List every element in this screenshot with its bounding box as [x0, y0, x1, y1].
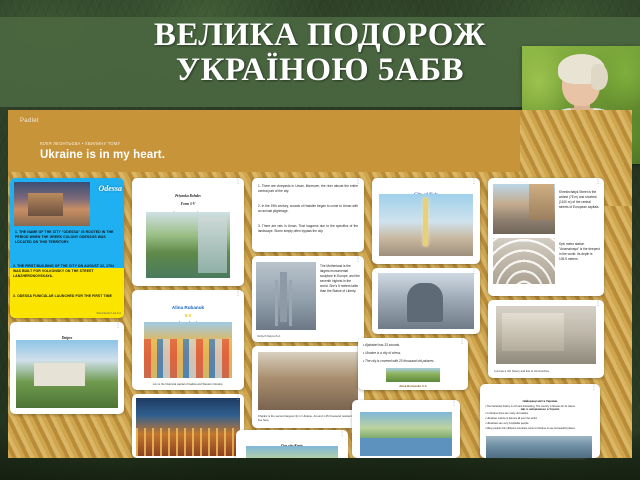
- odessa-signature: Shevchenko Liza 5-A: [96, 312, 121, 316]
- maidan-photo: [379, 194, 473, 256]
- card-lviv-title[interactable]: Alina Rubanuk 5-V Lviv- Ukraine Lviv is …: [132, 290, 244, 390]
- alphabet-fact-3: • The city is covered with 25 thousand o…: [363, 359, 463, 364]
- card-menu-icon[interactable]: ⋮: [595, 180, 601, 185]
- lviv-square-caption: Lviv has a rich history and lots of old …: [494, 370, 598, 374]
- lviv-caption: Lviv is the historical capital of Galici…: [132, 383, 244, 387]
- card-menu-icon[interactable]: ⋮: [595, 302, 601, 307]
- card-menu-icon[interactable]: ⋮: [471, 270, 477, 275]
- card-menu-icon[interactable]: ⋮: [591, 386, 597, 391]
- final-report-line-4: • Ukrainians are very hospitable people.: [485, 422, 595, 426]
- card-khreshchatyk-metro[interactable]: Khreshchatyk Street is the widest (75 m)…: [488, 178, 604, 296]
- uman-fact-3: 3. There are rats in Uman. That happens …: [258, 224, 358, 234]
- khreshchatyk-text: Khreshchatyk Street is the widest (75 m)…: [559, 190, 600, 210]
- motherland-photo: [256, 262, 316, 330]
- night-city-photo: [136, 398, 240, 456]
- card-menu-icon[interactable]: ⋮: [339, 432, 345, 437]
- card-menu-icon[interactable]: ⋮: [355, 258, 361, 263]
- alphabet-fact-2: • Ukraine is a city of chess.: [363, 351, 463, 356]
- uman-photo: [146, 212, 230, 278]
- alphabet-signature: Alina Borisenko 5-A: [358, 384, 468, 388]
- padlet-board[interactable]: Padlet ЮЛІЯ ЛЕОНТЬЄВА • ХВИЛИНУ ТОМУ Ukr…: [8, 110, 632, 458]
- card-kyiv-city[interactable]: City of Kyiv ⋮: [372, 178, 480, 264]
- card-menu-icon[interactable]: ⋮: [235, 396, 241, 401]
- river-photo: [246, 446, 338, 458]
- kharkiv-caption: Kharkiv is the second largest city in Uk…: [258, 414, 358, 422]
- card-uman-park[interactable]: Uman park ⋮: [352, 400, 460, 458]
- kharkiv-photo: [258, 352, 358, 410]
- slide-canvas: ВЕЛИКА ПОДОРОЖ УКРАЇНОЮ 5АБВ Padlet ЮЛІЯ…: [0, 0, 640, 480]
- odessa-fact-3: 3. ODESSA FUNICULAR LAUNCHED FOR THE FIR…: [13, 294, 121, 299]
- khreshchatyk-photo: [493, 184, 555, 234]
- card-alphabet-facts[interactable]: • Alphabet has 33 sounds. • Ukraine is a…: [358, 338, 468, 390]
- alphabet-fact-1: • Alphabet has 33 sounds.: [363, 343, 463, 348]
- final-report-photo: [486, 436, 592, 458]
- card-menu-icon[interactable]: ⋮: [235, 292, 241, 297]
- card-menu-icon[interactable]: ⋮: [115, 180, 121, 185]
- card-menu-icon[interactable]: ⋮: [235, 180, 241, 185]
- card-odessa-facts[interactable]: Odessa 1. THE NAME OF THE CITY "ODESSA" …: [10, 178, 124, 318]
- odessa-title: Odessa: [98, 184, 122, 193]
- padlet-board-title[interactable]: Ukraine is in my heart.: [40, 149, 165, 161]
- card-motherland[interactable]: The Motherland is the largest monumental…: [252, 256, 364, 342]
- presenter-hair-side: [591, 64, 608, 90]
- dnipro-photo: [16, 340, 118, 408]
- card-uman-title[interactable]: Priyanka Rohdov Form 5-V -Interesting Fa…: [132, 178, 244, 286]
- uman-fact-2: 2. In the 19th century, crowds of Hasidi…: [258, 204, 358, 214]
- padlet-logo[interactable]: Padlet: [20, 118, 39, 124]
- card-kyiv-founders[interactable]: ⋮: [372, 268, 480, 334]
- card-menu-icon[interactable]: ⋮: [471, 180, 477, 185]
- final-report-line-3: • Ukrainian cuisine is famous all over t…: [485, 417, 595, 421]
- alphabet-photo: [386, 368, 440, 382]
- card-menu-icon[interactable]: ⋮: [451, 402, 457, 407]
- card-lviv-square[interactable]: Lviv has a rich history and lots of old …: [488, 300, 604, 378]
- card-menu-icon[interactable]: ⋮: [115, 324, 121, 329]
- card-menu-icon[interactable]: ⋮: [355, 180, 361, 185]
- card-menu-icon[interactable]: ⋮: [459, 340, 465, 345]
- final-report-line-2: • In Ukraine there are many old castles.: [485, 412, 595, 416]
- padlet-byline: ЮЛІЯ ЛЕОНТЬЄВА • ХВИЛИНУ ТОМУ: [40, 141, 120, 146]
- odessa-fact-2: 2. THE FIRST BUILDING OF THE CITY ON AUG…: [13, 264, 121, 279]
- uman-fact-1: 1. There are vineyards in Uman. Moreover…: [258, 184, 358, 194]
- final-report-line-1: • The Ukrainian history is rich and inte…: [485, 405, 595, 409]
- card-dnipro[interactable]: Dnipro Dnipropetrovsk ⋮: [10, 322, 124, 414]
- odessa-fact-1: 1. THE NAME OF THE CITY "ODESSA" IS ROOT…: [15, 230, 120, 245]
- motherland-signature: Verbych Daryna 5-A: [257, 335, 280, 339]
- card-kharkiv[interactable]: Kharkiv is the second largest city in Uk…: [252, 346, 364, 428]
- uman-park-photo: [360, 412, 452, 456]
- metro-text: Kyiv metro station "Arsenalnaya" is the …: [559, 242, 600, 262]
- card-night-city[interactable]: ⋮: [132, 394, 244, 458]
- lviv-square-photo: [496, 306, 596, 364]
- card-river-view[interactable]: Our city-Kaniv Kaniv 5-V ⋮: [236, 430, 348, 458]
- kyiv-founders-photo: [378, 273, 474, 329]
- metro-photo: [493, 238, 555, 284]
- lviv-photo: [144, 322, 232, 378]
- motherland-text: The Motherland is the largest monumental…: [320, 264, 360, 294]
- final-report-line-5: • Many people from different countries c…: [485, 427, 595, 431]
- odessa-photo: [14, 182, 90, 226]
- card-final-report[interactable]: Найкращі міста України Що я найцікавіше …: [480, 384, 600, 458]
- padlet-header: Padlet ЮЛІЯ ЛЕОНТЬЄВА • ХВИЛИНУ ТОМУ Ukr…: [8, 110, 520, 172]
- card-uman-facts[interactable]: 1. There are vineyards in Uman. Moreover…: [252, 178, 364, 252]
